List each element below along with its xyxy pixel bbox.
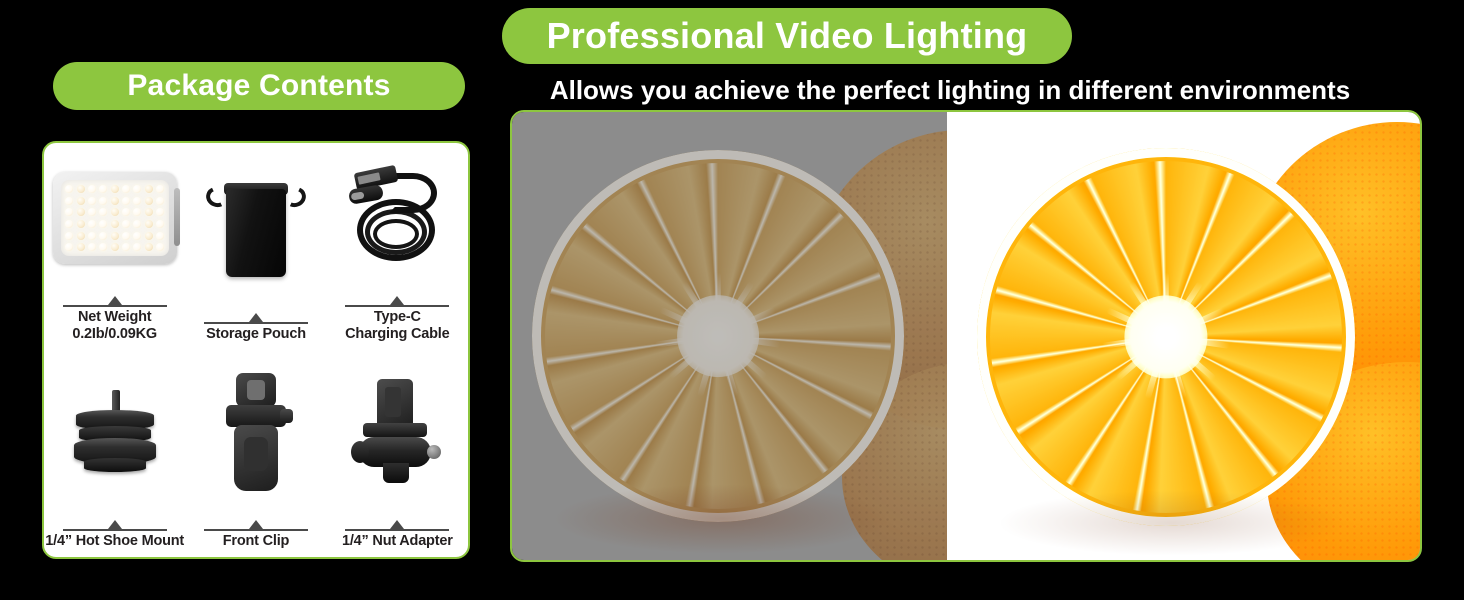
led-dot xyxy=(77,232,85,240)
led-dot xyxy=(65,232,73,240)
led-dot xyxy=(65,185,73,193)
led-dot xyxy=(145,220,153,228)
led-dot xyxy=(88,208,96,216)
led-dot xyxy=(88,185,96,193)
caption-line: Charging Cable xyxy=(327,326,468,344)
package-item-charging-cable: Type-C Charging Cable xyxy=(327,143,468,350)
package-contents-title: Package Contents xyxy=(53,62,465,110)
package-item-storage-pouch: Storage Pouch xyxy=(185,143,326,350)
lighting-subheading: Allows you achieve the perfect lighting … xyxy=(500,75,1400,106)
led-dot xyxy=(99,220,107,228)
led-light-panel-icon xyxy=(44,143,185,294)
storage-pouch-icon xyxy=(185,143,326,311)
caption-line: Front Clip xyxy=(185,533,326,551)
pointer-tick-icon xyxy=(204,311,308,324)
drop-shadow xyxy=(997,490,1347,556)
slice-core xyxy=(1124,295,1207,378)
led-dot xyxy=(77,197,85,205)
led-dot xyxy=(156,220,164,228)
led-dot xyxy=(88,220,96,228)
led-dot xyxy=(122,220,130,228)
led-dot xyxy=(88,232,96,240)
led-dot xyxy=(133,220,141,228)
led-dot xyxy=(145,208,153,216)
package-item-front-clip: Front Clip xyxy=(185,350,326,557)
package-item-caption: Net Weight 0.2Ib/0.09KG xyxy=(44,294,185,344)
led-dot xyxy=(77,185,85,193)
package-item-hot-shoe-mount: 1/4” Hot Shoe Mount xyxy=(44,350,185,557)
drop-shadow xyxy=(552,484,892,554)
led-dot xyxy=(99,232,107,240)
led-dot xyxy=(65,208,73,216)
led-dot xyxy=(145,185,153,193)
package-item-caption: Type-C Charging Cable xyxy=(327,294,468,344)
slice-core xyxy=(677,295,759,377)
led-dot xyxy=(111,232,119,240)
led-dot xyxy=(99,243,107,251)
package-item-caption: Storage Pouch xyxy=(185,311,326,344)
usb-type-c-cable-icon xyxy=(327,143,468,294)
orange-slice-bright xyxy=(977,148,1355,526)
orange-slice-dull xyxy=(532,150,904,522)
led-dot xyxy=(111,197,119,205)
led-dot xyxy=(122,232,130,240)
caption-line: Type-C xyxy=(327,309,468,327)
led-dot xyxy=(133,232,141,240)
lighting-comparison-panel xyxy=(510,110,1422,562)
led-dot xyxy=(111,220,119,228)
package-contents-grid: Net Weight 0.2Ib/0.09KG Storage Pouch xyxy=(44,143,468,557)
led-dot xyxy=(99,197,107,205)
package-item-nut-adapter: 1/4” Nut Adapter xyxy=(327,350,468,557)
nut-adapter-icon xyxy=(327,350,468,518)
led-dot xyxy=(133,185,141,193)
comparison-half-without-light xyxy=(512,112,947,560)
package-contents-card: Net Weight 0.2Ib/0.09KG Storage Pouch xyxy=(42,141,470,559)
led-dot xyxy=(122,208,130,216)
led-dot xyxy=(99,185,107,193)
led-dot xyxy=(65,220,73,228)
led-dot xyxy=(156,197,164,205)
professional-video-lighting-title: Professional Video Lighting xyxy=(502,8,1072,64)
led-dot xyxy=(122,197,130,205)
led-dot xyxy=(133,208,141,216)
led-dot xyxy=(122,243,130,251)
led-dot xyxy=(156,185,164,193)
led-dot xyxy=(65,243,73,251)
comparison-half-with-light xyxy=(947,112,1420,560)
hot-shoe-mount-icon xyxy=(44,350,185,518)
led-dot xyxy=(88,197,96,205)
caption-line: Storage Pouch xyxy=(185,326,326,344)
led-dot xyxy=(145,232,153,240)
led-dot xyxy=(111,185,119,193)
led-dot xyxy=(145,243,153,251)
front-clip-icon xyxy=(185,350,326,518)
led-dot xyxy=(99,208,107,216)
package-item-net-weight: Net Weight 0.2Ib/0.09KG xyxy=(44,143,185,350)
infographic-stage: Package Contents Professional Video Ligh… xyxy=(0,0,1464,600)
led-dot xyxy=(156,208,164,216)
pointer-tick-icon xyxy=(63,294,167,307)
caption-line: 1/4” Nut Adapter xyxy=(327,533,468,551)
led-dot xyxy=(145,197,153,205)
led-dot xyxy=(77,208,85,216)
pointer-tick-icon xyxy=(345,518,449,531)
led-dot xyxy=(77,220,85,228)
led-dot xyxy=(156,232,164,240)
package-item-caption: Front Clip xyxy=(185,518,326,551)
caption-line: 0.2Ib/0.09KG xyxy=(44,326,185,344)
led-dot xyxy=(88,243,96,251)
pointer-tick-icon xyxy=(345,294,449,307)
led-dot xyxy=(77,243,85,251)
pointer-tick-icon xyxy=(204,518,308,531)
led-dot xyxy=(111,208,119,216)
led-dot xyxy=(133,243,141,251)
led-dot xyxy=(133,197,141,205)
package-item-caption: 1/4” Hot Shoe Mount xyxy=(44,518,185,551)
pointer-tick-icon xyxy=(63,518,167,531)
led-dot xyxy=(111,243,119,251)
led-dot xyxy=(122,185,130,193)
caption-line: 1/4” Hot Shoe Mount xyxy=(44,533,185,551)
led-dot xyxy=(156,243,164,251)
caption-line: Net Weight xyxy=(44,309,185,327)
package-item-caption: 1/4” Nut Adapter xyxy=(327,518,468,551)
led-dot xyxy=(65,197,73,205)
